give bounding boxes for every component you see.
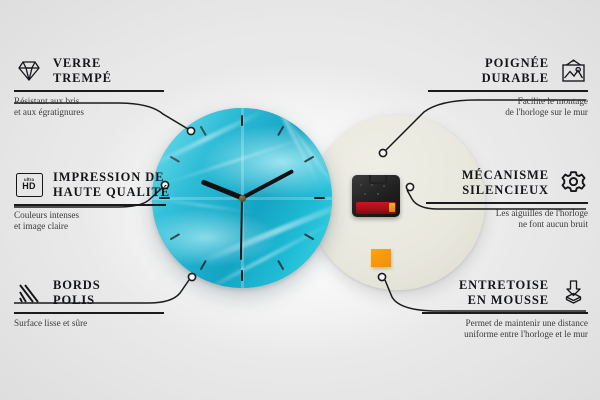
- feature-divider: [426, 202, 588, 204]
- feature-impression-haute-qualite: ultra HD IMPRESSION DEHAUTE QUALITÉ Coul…: [14, 170, 166, 232]
- feature-title: IMPRESSION DEHAUTE QUALITÉ: [53, 170, 170, 199]
- clock-mechanism: [352, 175, 400, 217]
- feature-header: POIGNÉEDURABLE: [428, 56, 588, 85]
- diamond-icon: [14, 58, 44, 84]
- feature-header: BORDSPOLIS: [14, 278, 164, 307]
- feature-entretoise-en-mousse: ENTRETOISEEN MOUSSE Permet de maintenir …: [422, 278, 588, 340]
- feature-description: Surface lisse et sûre: [14, 318, 164, 329]
- feature-title: BORDSPOLIS: [53, 278, 101, 307]
- foam-spacer-icon: [558, 280, 588, 306]
- mechanism-texture: [357, 181, 395, 199]
- ultra-hd-icon: ultra HD: [14, 172, 44, 198]
- gear-icon: [558, 170, 588, 196]
- feature-title: ENTRETOISEEN MOUSSE: [459, 278, 549, 307]
- feature-divider: [14, 312, 164, 314]
- picture-hanger-icon: [558, 58, 588, 84]
- feature-bords-polis: BORDSPOLIS Surface lisse et sûre: [14, 278, 164, 329]
- feature-title: MÉCANISMESILENCIEUX: [462, 168, 549, 197]
- clock-front-face: [152, 108, 332, 288]
- feature-divider: [428, 90, 588, 92]
- feature-verre-trempe: VERRETREMPÉ Résistant aux briset aux égr…: [14, 56, 164, 118]
- feature-description: Permet de maintenir une distanceuniforme…: [422, 318, 588, 341]
- hands-center-cap: [239, 195, 246, 202]
- feature-header: ultra HD IMPRESSION DEHAUTE QUALITÉ: [14, 170, 166, 199]
- feature-divider: [14, 204, 166, 206]
- battery: [356, 202, 396, 214]
- feature-description: Résistant aux briset aux égratignures: [14, 96, 164, 119]
- feature-description: Couleurs intenseset image claire: [14, 210, 166, 233]
- feature-header: ENTRETOISEEN MOUSSE: [422, 278, 588, 307]
- feature-description: Facilite le montagede l'horloge sur le m…: [428, 96, 588, 119]
- feature-description: Les aiguilles de l'horlogene font aucun …: [426, 208, 588, 231]
- feature-header: VERRETREMPÉ: [14, 56, 164, 85]
- feature-mecanisme-silencieux: MÉCANISMESILENCIEUX Les aiguilles de l'h…: [426, 168, 588, 230]
- feature-poignee-durable: POIGNÉEDURABLE Facilite le montagede l'h…: [428, 56, 588, 118]
- feature-divider: [14, 90, 164, 92]
- feature-header: MÉCANISMESILENCIEUX: [426, 168, 588, 197]
- feature-title: POIGNÉEDURABLE: [482, 56, 549, 85]
- polished-edges-icon: [14, 280, 44, 306]
- feature-divider: [422, 312, 588, 314]
- foam-spacer: [371, 249, 391, 267]
- feature-title: VERRETREMPÉ: [53, 56, 112, 85]
